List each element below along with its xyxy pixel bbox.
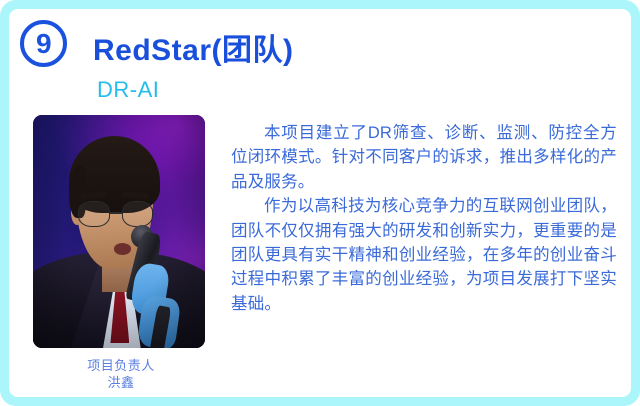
page-title: RedStar(团队) <box>93 25 294 69</box>
photo-column: 项目负责人 洪鑫 <box>33 115 209 391</box>
caption-role: 项目负责人 <box>33 357 209 374</box>
caption-name: 洪鑫 <box>33 374 209 391</box>
profile-card: 9 RedStar(团队) DR-AI <box>9 9 631 397</box>
paragraph-1: 本项目建立了DR筛查、诊断、监测、防控全方位闭环模式。针对不同客户的诉求，推出多… <box>231 121 617 194</box>
rank-badge: 9 <box>20 20 67 67</box>
portrait-photo <box>33 115 205 348</box>
rank-badge-number: 9 <box>36 30 51 58</box>
profile-card-frame: 9 RedStar(团队) DR-AI <box>0 0 640 406</box>
photo-caption: 项目负责人 洪鑫 <box>33 357 209 391</box>
photo-vignette <box>33 115 205 348</box>
page-subtitle: DR-AI <box>97 77 159 103</box>
card-header: 9 RedStar(团队) DR-AI <box>9 9 631 113</box>
description-text: 本项目建立了DR筛查、诊断、监测、防控全方位闭环模式。针对不同客户的诉求，推出多… <box>231 121 617 316</box>
paragraph-2: 作为以高科技为核心竞争力的互联网创业团队，团队不仅仅拥有强大的研发和创新实力，更… <box>231 194 617 316</box>
